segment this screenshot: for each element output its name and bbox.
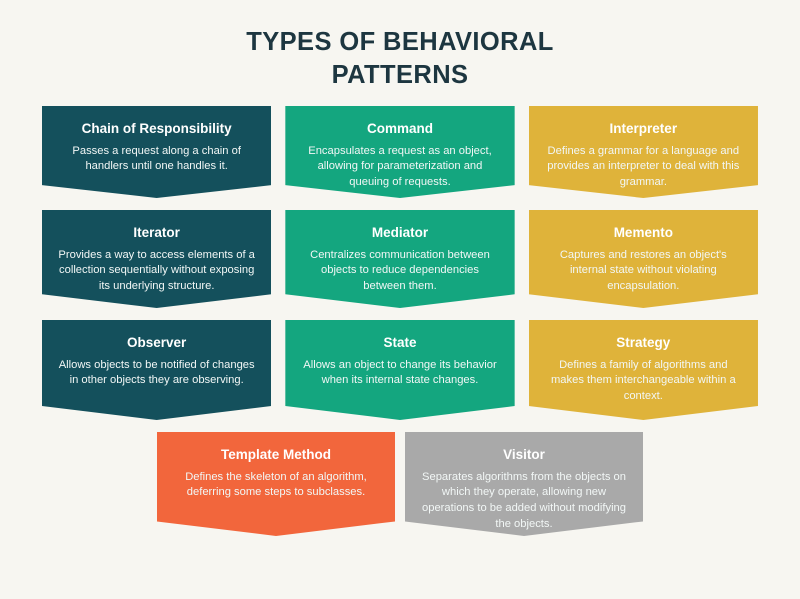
pattern-card-title: Mediator <box>298 224 501 242</box>
pattern-card-mediator[interactable]: Mediator Centralizes communication betwe… <box>285 210 514 308</box>
pattern-card-interpreter[interactable]: Interpreter Defines a grammar for a lang… <box>529 106 758 198</box>
pattern-row-3: Observer Allows objects to be notified o… <box>42 320 758 420</box>
pattern-row-2: Iterator Provides a way to access elemen… <box>42 210 758 308</box>
pattern-card-memento[interactable]: Memento Captures and restores an object'… <box>529 210 758 308</box>
pattern-card-description: Allows objects to be notified of changes… <box>55 358 258 390</box>
pattern-card-iterator[interactable]: Iterator Provides a way to access elemen… <box>42 210 271 308</box>
pattern-card-description: Encapsulates a request as an object, all… <box>298 144 501 192</box>
pattern-card-observer[interactable]: Observer Allows objects to be notified o… <box>42 320 271 420</box>
pattern-card-state[interactable]: State Allows an object to change its beh… <box>285 320 514 420</box>
pattern-card-description: Defines a family of algorithms and makes… <box>542 358 745 406</box>
page-title: TYPES OF BEHAVIORAL PATTERNS <box>0 26 800 91</box>
pattern-card-title: Command <box>298 120 501 138</box>
pattern-card-visitor[interactable]: Visitor Separates algorithms from the ob… <box>405 432 643 536</box>
pattern-card-title: Interpreter <box>542 120 745 138</box>
pattern-card-title: Template Method <box>170 446 382 464</box>
pattern-card-description: Passes a request along a chain of handle… <box>55 144 258 176</box>
pattern-card-description: Defines the skeleton of an algorithm, de… <box>170 470 382 502</box>
pattern-card-title: Iterator <box>55 224 258 242</box>
pattern-card-title: Visitor <box>418 446 630 464</box>
pattern-card-description: Centralizes communication between object… <box>298 248 501 296</box>
pattern-card-chain-of-responsibility[interactable]: Chain of Responsibility Passes a request… <box>42 106 271 198</box>
pattern-card-title: Strategy <box>542 334 745 352</box>
pattern-card-description: Defines a grammar for a language and pro… <box>542 144 745 192</box>
pattern-card-title: State <box>298 334 501 352</box>
pattern-card-grid: Chain of Responsibility Passes a request… <box>42 106 758 536</box>
pattern-card-description: Captures and restores an object's intern… <box>542 248 745 296</box>
pattern-card-description: Provides a way to access elements of a c… <box>55 248 258 296</box>
pattern-row-4: Template Method Defines the skeleton of … <box>42 432 758 536</box>
pattern-row-1: Chain of Responsibility Passes a request… <box>42 106 758 198</box>
behavioral-patterns-poster: TYPES OF BEHAVIORAL PATTERNS Chain of Re… <box>0 0 800 599</box>
pattern-card-command[interactable]: Command Encapsulates a request as an obj… <box>285 106 514 198</box>
pattern-card-strategy[interactable]: Strategy Defines a family of algorithms … <box>529 320 758 420</box>
pattern-card-description: Allows an object to change its behavior … <box>298 358 501 390</box>
pattern-card-title: Memento <box>542 224 745 242</box>
pattern-card-description: Separates algorithms from the objects on… <box>418 470 630 534</box>
pattern-card-title: Chain of Responsibility <box>55 120 258 138</box>
pattern-card-title: Observer <box>55 334 258 352</box>
pattern-card-template-method[interactable]: Template Method Defines the skeleton of … <box>157 432 395 536</box>
